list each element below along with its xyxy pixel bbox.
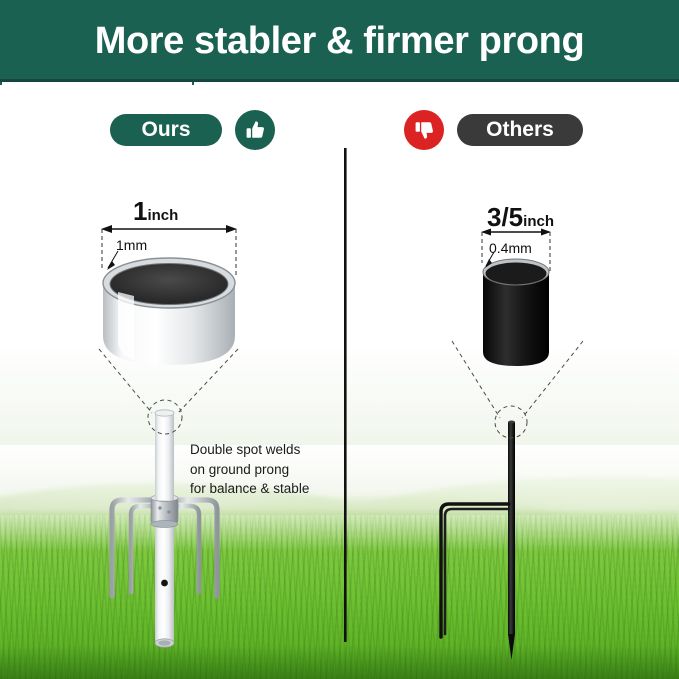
annotation-line-1: Double spot welds xyxy=(190,440,355,460)
thumbs-up-icon xyxy=(235,110,275,150)
header-banner: More stabler & firmer prong xyxy=(0,0,679,82)
scene-background xyxy=(0,85,679,679)
page-title: More stabler & firmer prong xyxy=(95,20,585,63)
badge-ours-label: Ours xyxy=(141,118,190,142)
badge-row: Ours Others xyxy=(0,110,679,154)
thickness-label-others: 0.4mm xyxy=(489,240,532,256)
badge-others: Others xyxy=(457,114,583,146)
dimension-label-ours: 1inch xyxy=(133,196,178,227)
grass-shadow xyxy=(0,645,679,679)
infographic-root: More stabler & firmer prong xyxy=(0,0,679,679)
thickness-label-ours: 1mm xyxy=(116,237,147,253)
dimension-label-others: 3/5inch xyxy=(487,202,554,233)
annotation-line-3: for balance & stable xyxy=(190,479,355,499)
badge-others-label: Others xyxy=(486,118,554,142)
annotation-double-spot-welds: Double spot welds on ground prong for ba… xyxy=(190,440,355,499)
annotation-line-2: on ground prong xyxy=(190,460,355,480)
badge-ours: Ours xyxy=(110,114,222,146)
thumbs-down-icon xyxy=(404,110,444,150)
